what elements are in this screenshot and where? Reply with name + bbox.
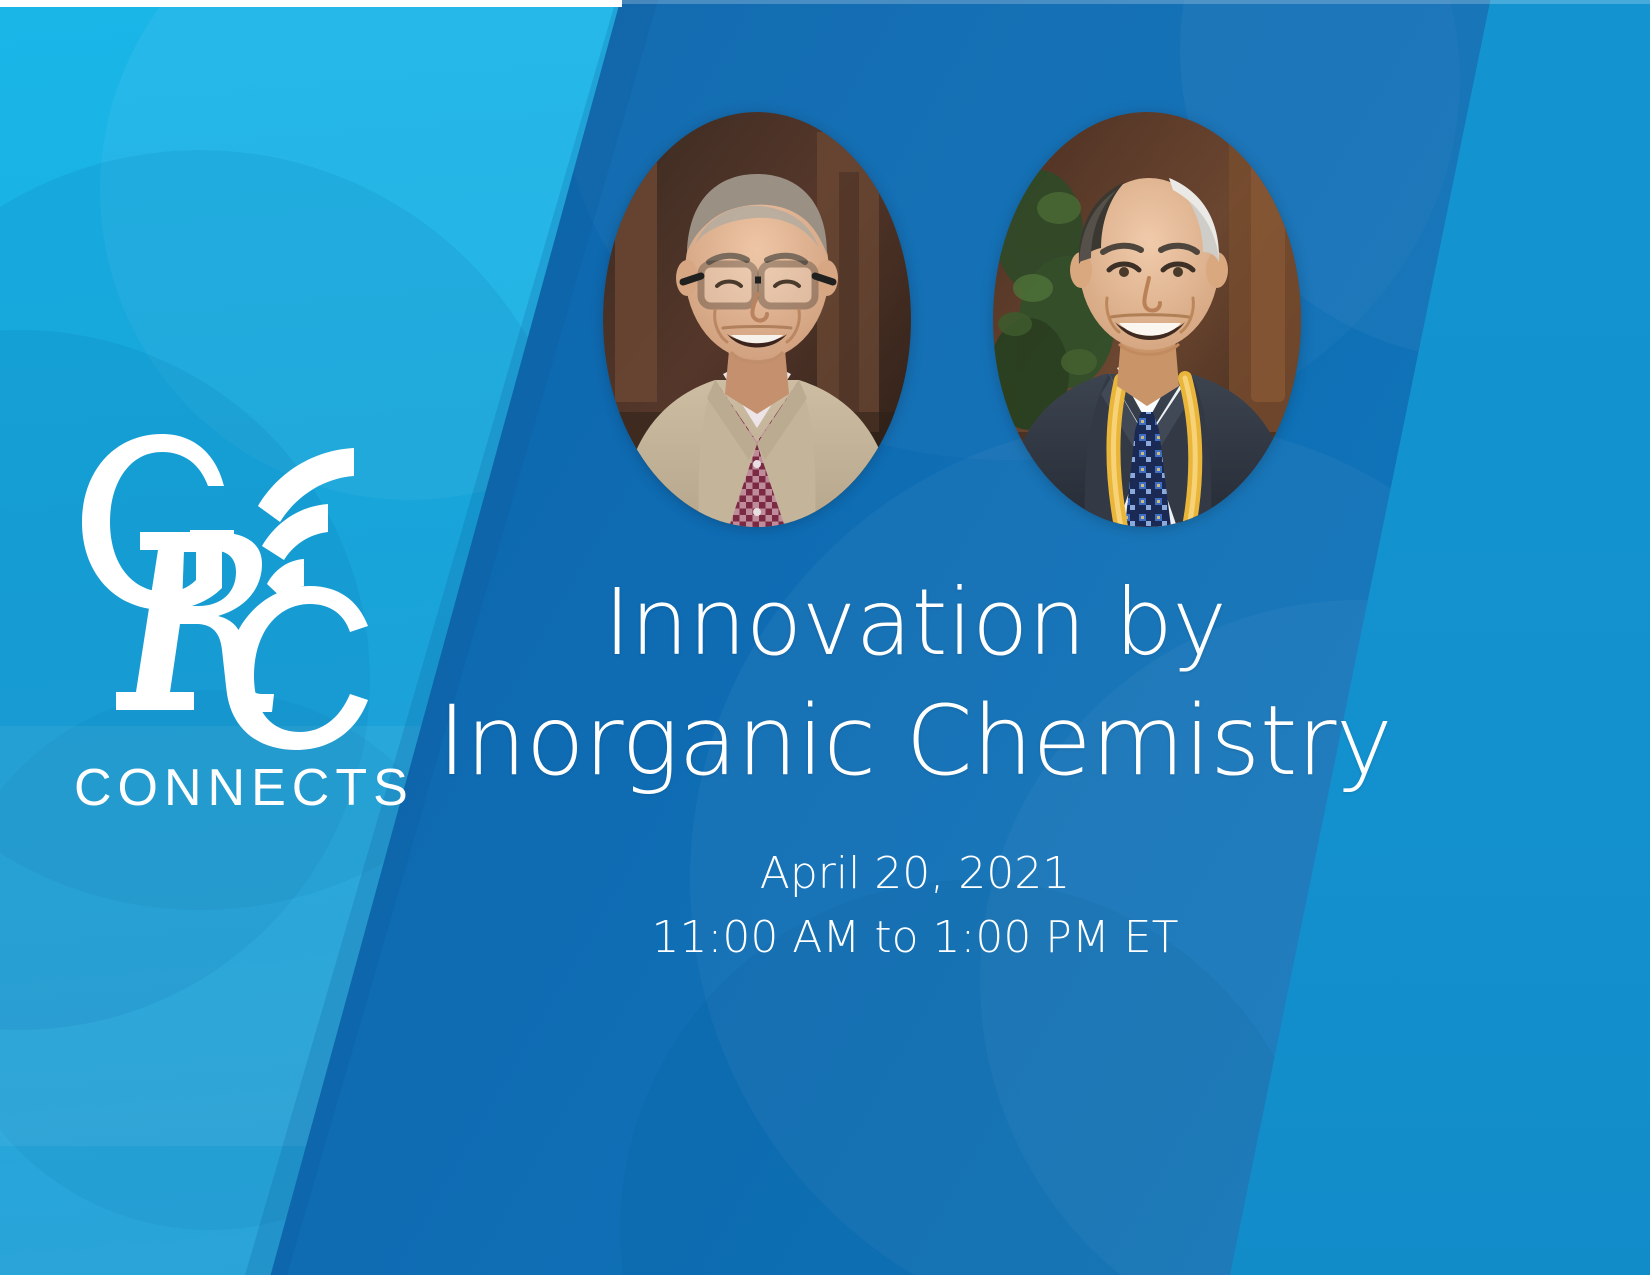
event-date: April 20, 2021 bbox=[420, 842, 1410, 906]
event-time: 11:00 AM to 1:00 PM ET bbox=[420, 906, 1410, 970]
grc-connects-event-poster: CONNECTS Innovation by Inorganic Chemist… bbox=[0, 0, 1650, 1275]
grc-connects-logo: CONNECTS bbox=[62, 410, 392, 840]
speaker-1-portrait-icon bbox=[603, 112, 911, 527]
speaker-photo-1 bbox=[603, 112, 911, 527]
top-highlight-sliver bbox=[612, 0, 1650, 4]
title-line-1: Innovation by bbox=[420, 565, 1410, 681]
logo-caption-connects: CONNECTS bbox=[74, 762, 374, 814]
top-white-sliver bbox=[0, 0, 622, 7]
event-details: April 20, 2021 11:00 AM to 1:00 PM ET bbox=[420, 842, 1410, 970]
speaker-2-portrait-icon bbox=[993, 112, 1301, 527]
grc-wifi-monogram-icon bbox=[62, 410, 382, 750]
speaker-photo-2 bbox=[993, 112, 1301, 527]
page-title: Innovation by Inorganic Chemistry bbox=[420, 565, 1410, 802]
title-line-2: Inorganic Chemistry bbox=[420, 681, 1410, 802]
grc-logo-svg bbox=[62, 410, 382, 750]
